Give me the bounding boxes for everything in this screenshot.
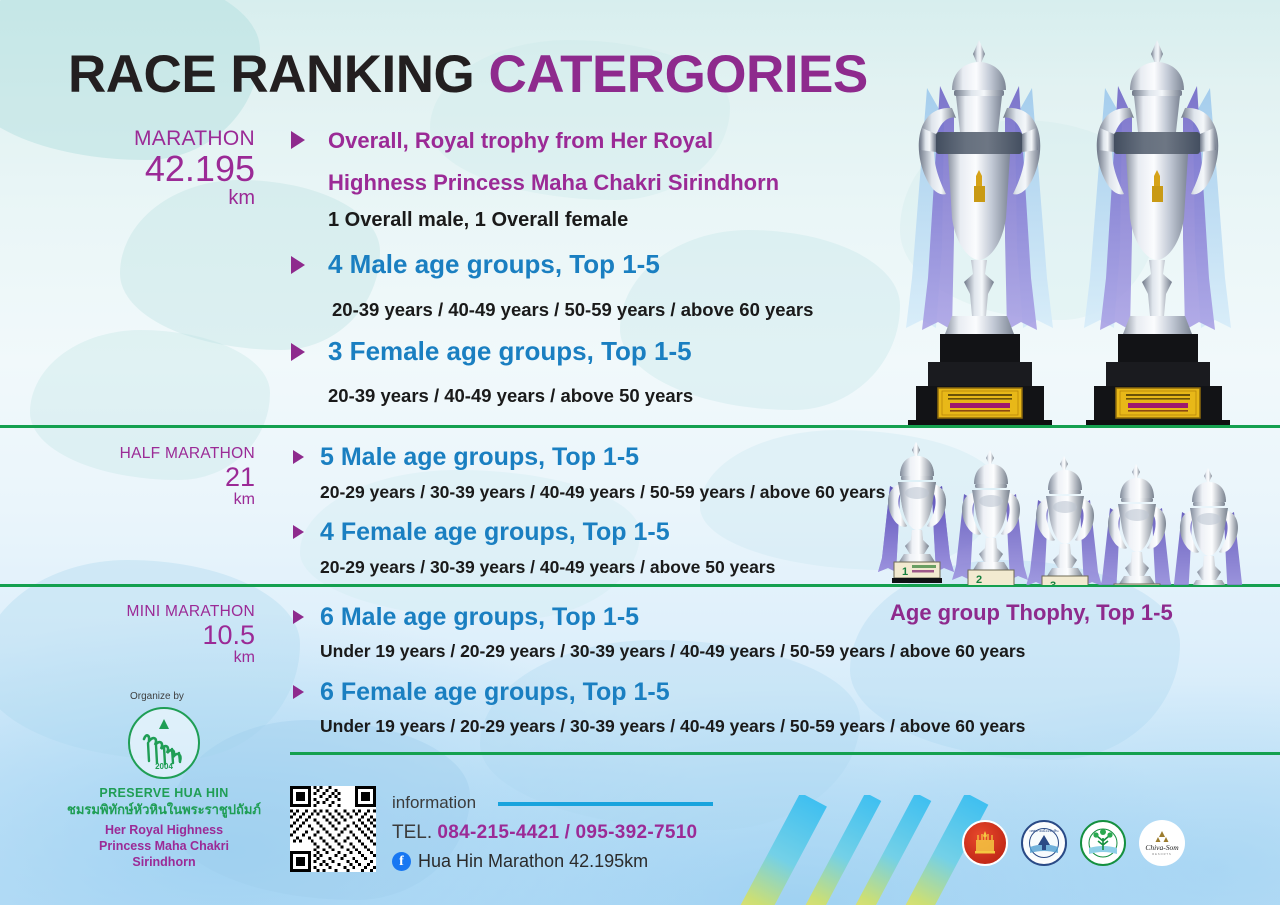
half-row-2: 4 Female age groups, Top 1-5: [320, 518, 670, 547]
distance-half-marathon: HALF MARATHON 21 km: [60, 446, 255, 508]
mini-row-3: Under 19 years / 20-29 years / 30-39 yea…: [320, 716, 1025, 737]
distance-value: 10.5: [60, 622, 255, 649]
facebook-page-name: Hua Hin Marathon 42.195km: [418, 851, 648, 872]
distance-mini-marathon: MINI MARATHON 10.5 km: [60, 604, 255, 666]
sponsor-logos: เทศบาลเมืองหัวหิน Chiva-Som RESORTS: [962, 820, 1185, 866]
mini-row-2: 6 Female age groups, Top 1-5: [320, 678, 670, 707]
age-group-trophy-row: 1 2 3 4 5: [878, 440, 1250, 585]
distance-value: 42.195: [85, 151, 255, 187]
page-title: RACE RANKING CATERGORIES: [68, 44, 868, 105]
bullet-arrow-icon: [291, 343, 305, 361]
trophy-rank-1: 1: [902, 566, 908, 578]
organizer-name-th: ชมรมพิทักษ์หัวหินในพระราชูปถัมภ์: [49, 802, 279, 818]
phone-number-1[interactable]: 084-215-4421: [437, 822, 559, 843]
distance-value: 21: [60, 464, 255, 491]
organize-by-label: Organize by: [130, 691, 184, 702]
trophy-caption: Age group Thophy, Top 1-5: [890, 600, 1173, 626]
information-label: information: [392, 793, 476, 813]
facebook-icon: f: [392, 852, 411, 871]
half-row-0: 5 Male age groups, Top 1-5: [320, 443, 639, 472]
trophy-rank-3: 3: [1050, 580, 1056, 585]
section-divider-3: [290, 752, 1280, 755]
mini-row-1: Under 19 years / 20-29 years / 30-39 yea…: [320, 641, 1025, 662]
distance-unit: km: [85, 188, 255, 208]
distance-name: MARATHON: [85, 128, 255, 149]
page-title-part2: CATERGORIES: [488, 45, 867, 104]
page-title-part1: RACE RANKING: [68, 45, 488, 104]
tel-label: TEL.: [392, 822, 432, 843]
sponsor-municipality-emblem: เทศบาลเมืองหัวหิน: [1021, 820, 1067, 866]
marathon-row-6: 20-39 years / 40-49 years / above 50 yea…: [328, 385, 693, 407]
distance-unit: km: [60, 650, 255, 666]
phone-number-2[interactable]: 095-392-7510: [576, 822, 698, 843]
sponsor-mangrove-emblem: [1080, 820, 1126, 866]
distance-name: HALF MARATHON: [60, 446, 255, 462]
logo-year: 2004: [155, 762, 173, 771]
information-rule: [498, 802, 713, 806]
marathon-row-3: 4 Male age groups, Top 1-5: [328, 249, 660, 280]
bullet-arrow-icon: [293, 610, 304, 624]
sponsor-chiva-som-logo: Chiva-Som RESORTS: [1139, 820, 1185, 866]
half-row-1: 20-29 years / 30-39 years / 40-49 years …: [320, 482, 885, 503]
section-divider-1: [0, 425, 1280, 428]
royal-patron-line1: Her Royal Highness: [49, 822, 279, 838]
bullet-arrow-icon: [291, 256, 305, 274]
bullet-arrow-icon: [293, 685, 304, 699]
royal-trophy-left: [892, 28, 1067, 428]
mini-row-0: 6 Male age groups, Top 1-5: [320, 603, 639, 632]
bullet-arrow-icon: [293, 450, 304, 464]
marathon-row-2: 1 Overall male, 1 Overall female: [328, 209, 628, 232]
chiva-som-text: Chiva-Som: [1145, 843, 1179, 852]
marathon-row-5: 3 Female age groups, Top 1-5: [328, 336, 692, 367]
trophy-rank-2: 2: [976, 574, 982, 585]
half-row-3: 20-29 years / 30-39 years / 40-49 years …: [320, 557, 775, 578]
phone-separator: /: [565, 822, 571, 843]
royal-patron-line2: Princess Maha Chakri: [49, 838, 279, 854]
marathon-row-1: Highness Princess Maha Chakri Sirindhorn: [328, 170, 779, 196]
qr-code[interactable]: [290, 786, 376, 872]
sponsor-royal-red-emblem: [962, 820, 1008, 866]
distance-marathon: MARATHON 42.195 km: [85, 128, 255, 208]
organizer-name-en: PRESERVE HUA HIN: [49, 786, 279, 802]
royal-trophy-right: [1070, 28, 1245, 428]
svg-text:เทศบาลเมืองหัวหิน: เทศบาลเมืองหัวหิน: [1029, 828, 1059, 833]
distance-unit: km: [60, 492, 255, 508]
marathon-row-4: 20-39 years / 40-49 years / 50-59 years …: [332, 299, 813, 321]
facebook-line[interactable]: f Hua Hin Marathon 42.195km: [392, 851, 648, 872]
telephone-line: TEL. 084-215-4421 / 095-392-7510: [392, 822, 697, 844]
royal-patron-line3: Sirindhorn: [49, 854, 279, 870]
bullet-arrow-icon: [291, 131, 305, 149]
organizer-text-block: PRESERVE HUA HIN ชมรมพิทักษ์หัวหินในพระร…: [49, 786, 279, 871]
preserve-hua-hin-logo: 2004: [128, 707, 200, 779]
svg-text:RESORTS: RESORTS: [1152, 852, 1172, 856]
marathon-row-0: Overall, Royal trophy from Her Royal: [328, 128, 713, 154]
distance-name: MINI MARATHON: [60, 604, 255, 620]
bullet-arrow-icon: [293, 525, 304, 539]
